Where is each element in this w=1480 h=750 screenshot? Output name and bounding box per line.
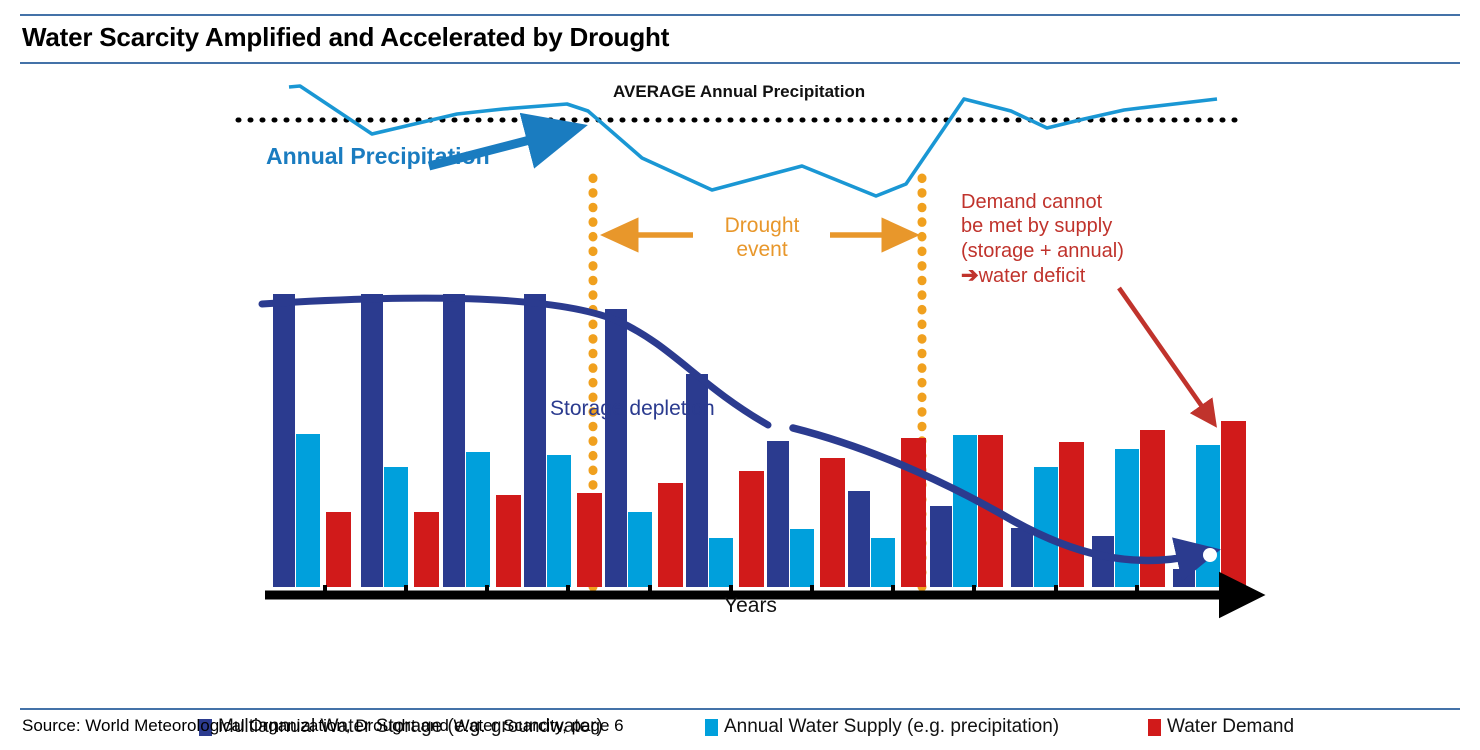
bar-storage <box>767 441 789 587</box>
deficit-arrow-icon: ➔ <box>961 264 979 287</box>
x-axis-label: Years <box>724 594 777 618</box>
water-deficit-arrow <box>1119 288 1208 415</box>
annual-precipitation-line <box>289 86 1217 196</box>
bar-group-12 <box>1173 421 1246 587</box>
bar-demand <box>820 458 845 587</box>
bar-supply <box>628 512 652 587</box>
bar-demand <box>1221 421 1246 587</box>
bar-storage <box>443 294 465 587</box>
deficit-line-2: be met by supply <box>961 215 1112 237</box>
bar-supply <box>296 434 320 587</box>
drought-event-line2: event <box>736 238 787 261</box>
bar-supply <box>466 452 490 587</box>
bar-demand <box>901 438 926 587</box>
bar-storage <box>273 294 295 587</box>
deficit-line-4: water deficit <box>979 265 1086 287</box>
bar-supply <box>547 455 571 587</box>
legend-label: Annual Water Supply (e.g. precipitation) <box>724 716 1059 738</box>
top-divider-rule <box>20 14 1460 16</box>
bar-supply <box>384 467 408 587</box>
bar-demand <box>739 471 764 587</box>
legend-item-annual-water-supply: Annual Water Supply (e.g. precipitation) <box>705 716 1059 738</box>
bar-storage <box>930 506 952 587</box>
page-title: Water Scarcity Amplified and Accelerated… <box>22 22 669 53</box>
bar-supply <box>790 529 814 587</box>
bar-group-2 <box>361 294 439 587</box>
bar-group-10 <box>1011 442 1084 587</box>
bar-demand <box>414 512 439 587</box>
source-divider-rule <box>20 708 1460 710</box>
water-deficit-label: Demand cannotbe met by supply(storage + … <box>961 190 1124 289</box>
storage-depletion-label: Storage depletion <box>550 397 715 421</box>
source-citation: Source: World Meteorological Organizatio… <box>22 716 624 736</box>
slide-page: Water Scarcity Amplified and Accelerated… <box>0 0 1480 747</box>
drought-event-line1: Drought <box>725 214 800 237</box>
bar-storage <box>1092 536 1114 587</box>
bar-storage <box>848 491 870 587</box>
bar-group-7 <box>767 441 845 587</box>
bar-group-3 <box>443 294 521 587</box>
bar-storage <box>1173 569 1195 587</box>
legend-swatch-icon <box>1148 719 1161 736</box>
bar-supply <box>1196 445 1220 587</box>
bar-demand <box>496 495 521 587</box>
bar-demand <box>326 512 351 587</box>
title-divider-rule <box>20 62 1460 64</box>
legend-swatch-icon <box>705 719 718 736</box>
bar-demand <box>658 483 683 587</box>
bar-storage <box>524 294 546 587</box>
bar-supply <box>953 435 977 587</box>
legend-item-water-demand: Water Demand <box>1148 716 1294 738</box>
deficit-line-3: (storage + annual) <box>961 240 1124 262</box>
legend-label: Water Demand <box>1167 716 1294 738</box>
bar-supply <box>1115 449 1139 587</box>
bar-storage <box>1011 528 1033 587</box>
drought-event-label: Droughtevent <box>702 214 822 261</box>
bar-supply <box>1034 467 1058 587</box>
bar-storage <box>605 309 627 587</box>
bar-storage <box>361 294 383 587</box>
bar-group-1 <box>273 294 351 587</box>
average-precipitation-label: AVERAGE Annual Precipitation <box>613 82 865 102</box>
chart-figure: AVERAGE Annual Precipitation Annual Prec… <box>0 66 1480 706</box>
bar-supply <box>709 538 733 587</box>
bar-demand <box>1059 442 1084 587</box>
bar-demand <box>577 493 602 587</box>
annual-precipitation-label: Annual Precipitation <box>266 143 490 170</box>
bar-supply <box>871 538 895 587</box>
deficit-line-1: Demand cannot <box>961 191 1102 213</box>
